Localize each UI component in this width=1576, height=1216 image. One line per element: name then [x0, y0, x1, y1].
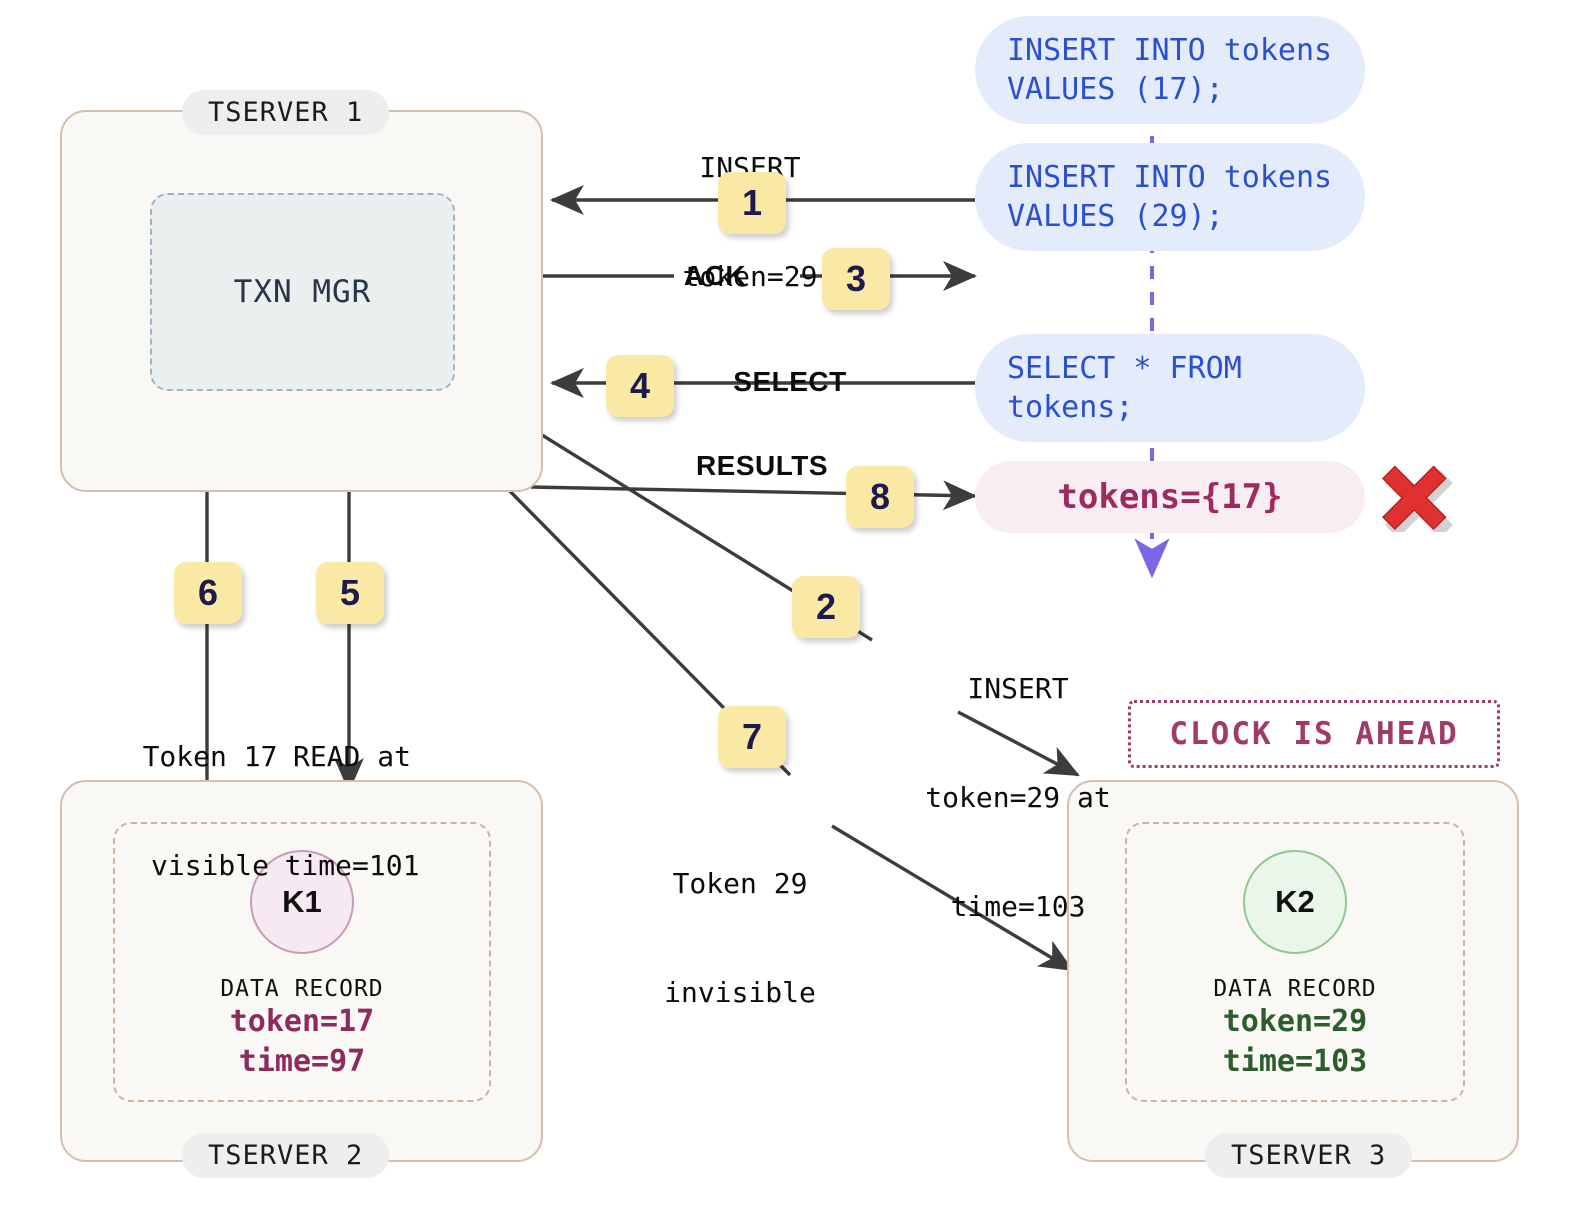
- step-badge-1[interactable]: 1: [718, 172, 786, 234]
- sql-line-1: INSERT INTO tokens: [1007, 31, 1365, 70]
- sql-line-2: VALUES (29);: [1007, 197, 1365, 236]
- label-line-2: token=29 at: [888, 780, 1148, 816]
- step-badge-6[interactable]: 6: [174, 562, 242, 624]
- label-line-1: READ at: [232, 739, 472, 775]
- label-results: RESULTS: [672, 450, 852, 482]
- sql-bubble-select[interactable]: SELECT * FROM tokens;: [975, 334, 1365, 442]
- result-text: tokens={17}: [1057, 477, 1282, 517]
- record-time-k2: time=103: [1223, 1042, 1368, 1082]
- record-title-k1: DATA RECORD: [220, 976, 383, 1002]
- label-line-3: time=103: [888, 889, 1148, 925]
- clock-ahead-warning: CLOCK IS AHEAD: [1128, 700, 1500, 768]
- sql-bubble-insert-17[interactable]: INSERT INTO tokens VALUES (17);: [975, 16, 1365, 124]
- label-ack: ACK: [640, 260, 790, 292]
- result-bubble-tokens[interactable]: tokens={17}: [975, 461, 1365, 533]
- label-select: SELECT: [700, 366, 880, 398]
- label-read-at-time: READ at time=101: [232, 666, 472, 957]
- data-record-k2[interactable]: K2 DATA RECORD token=29 time=103: [1125, 822, 1465, 1102]
- step-badge-3[interactable]: 3: [822, 248, 890, 310]
- record-title-k2: DATA RECORD: [1213, 976, 1376, 1002]
- red-x-icon: [1380, 458, 1454, 532]
- label-line-2: time=101: [232, 848, 472, 884]
- step-badge-7[interactable]: 7: [718, 706, 786, 768]
- tserver-3-label: TSERVER 3: [1205, 1133, 1412, 1178]
- tserver-2-label: TSERVER 2: [182, 1133, 389, 1178]
- step-badge-4[interactable]: 4: [606, 355, 674, 417]
- step-badge-8[interactable]: 8: [846, 466, 914, 528]
- sql-line-2: VALUES (17);: [1007, 70, 1365, 109]
- txn-manager-box[interactable]: TXN MGR: [150, 193, 455, 391]
- sql-line-1: SELECT * FROM: [1007, 349, 1365, 388]
- diagram-canvas: TSERVER 1 TXN MGR TSERVER 2 K1 DATA RECO…: [0, 0, 1576, 1216]
- record-token-k2: token=29: [1223, 1002, 1368, 1042]
- txn-manager-label: TXN MGR: [234, 274, 372, 310]
- record-token-k1: token=17: [230, 1002, 375, 1042]
- label-line-2: invisible: [620, 975, 860, 1011]
- sql-line-1: INSERT INTO tokens: [1007, 158, 1365, 197]
- sql-bubble-insert-29[interactable]: INSERT INTO tokens VALUES (29);: [975, 143, 1365, 251]
- clock-ahead-label: CLOCK IS AHEAD: [1169, 716, 1458, 752]
- label-line-1: Token 29: [620, 866, 860, 902]
- tserver-1-label: TSERVER 1: [182, 90, 389, 135]
- sql-line-2: tokens;: [1007, 388, 1365, 427]
- record-time-k1: time=97: [239, 1042, 365, 1082]
- step-badge-5[interactable]: 5: [316, 562, 384, 624]
- label-line-1: INSERT: [888, 671, 1148, 707]
- key-circle-k2: K2: [1243, 850, 1347, 954]
- label-insert-at-time103: INSERT token=29 at time=103: [888, 598, 1148, 998]
- step-badge-2[interactable]: 2: [792, 576, 860, 638]
- label-token29-invisible: Token 29 invisible: [620, 793, 860, 1084]
